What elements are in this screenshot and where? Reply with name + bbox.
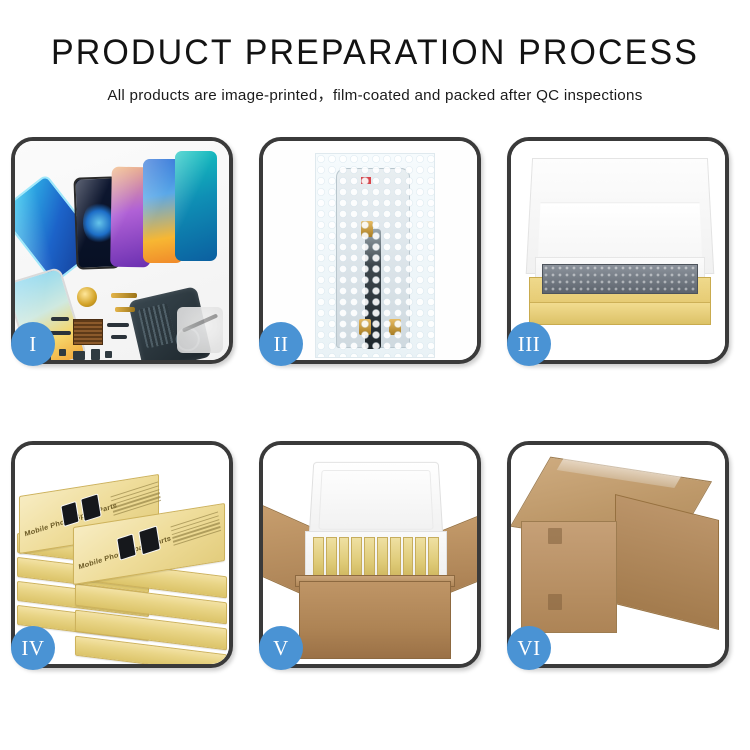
gold-box-tray-icon	[529, 277, 711, 325]
step-badge-6: VI	[507, 626, 551, 670]
bubble-wrapped-item-icon	[542, 264, 698, 294]
process-step-panel-2: II Screen assembly sealed in bubble wrap…	[259, 137, 481, 364]
step-badge-5: V	[259, 626, 303, 670]
infographic-page: PRODUCT PREPARATION PROCESS All products…	[0, 0, 750, 750]
gold-boxes-inside-icon	[313, 537, 439, 579]
step-badge-1: I	[11, 322, 55, 366]
carton-face-icon	[521, 521, 617, 633]
chip-array-icon	[73, 319, 103, 345]
step-badge-4: IV	[11, 626, 55, 670]
process-step-panel-4: Mobile Phone Spare Parts Mobile Phone Sp…	[11, 441, 233, 668]
process-step-panel-6: VI Sealed and taped shipping carton	[507, 441, 729, 668]
step-badge-3: III	[507, 322, 551, 366]
page-subtitle: All products are image-printed，film-coat…	[0, 83, 750, 105]
phone-teal-icon	[175, 151, 217, 261]
speaker-coil-icon	[77, 287, 97, 307]
repair-tool-icon	[177, 307, 223, 353]
process-step-grid: I Mobile phone screens and spare compone…	[11, 137, 739, 668]
box-stack-icon: Mobile Phone Spare Parts Mobile Phone Sp…	[17, 463, 229, 659]
header: PRODUCT PREPARATION PROCESS All products…	[0, 0, 750, 105]
process-step-panel-5: V Boxes packed into foam-lined shipping …	[259, 441, 481, 668]
bubble-wrap-bag-icon	[315, 153, 435, 358]
page-title: PRODUCT PREPARATION PROCESS	[11, 33, 739, 73]
carton-front-icon	[299, 581, 451, 659]
process-step-panel-1: I Mobile phone screens and spare compone…	[11, 137, 233, 364]
step-badge-2: II	[259, 322, 303, 366]
process-step-panel-3: III Item placed in foam-lined gold retai…	[507, 137, 729, 364]
foam-lid-icon	[309, 462, 444, 539]
